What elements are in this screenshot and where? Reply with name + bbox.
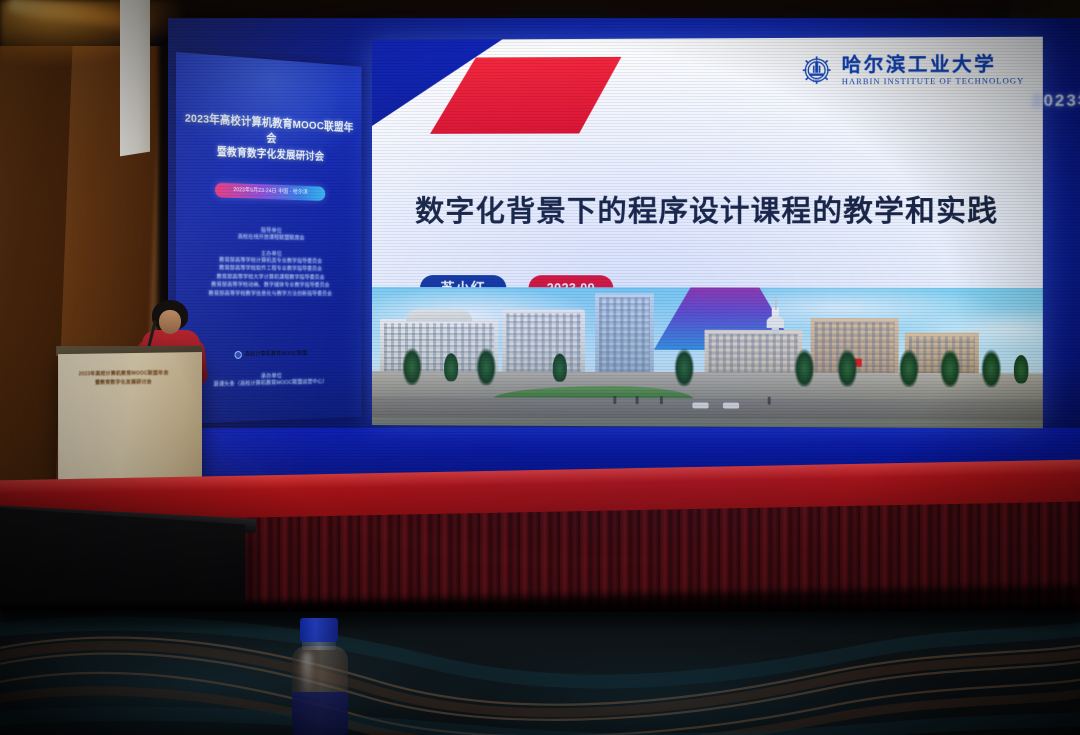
podium-side-panel <box>120 0 150 156</box>
carpet-pattern <box>0 612 1080 735</box>
tree <box>837 346 857 387</box>
pedestrian <box>636 396 639 404</box>
speaker-face <box>159 310 181 334</box>
podium-sign-line2: 暨教育数字化发展研讨会 <box>66 378 183 388</box>
banner-organizer-section: 主办单位 教育部高等学校计算机类专业教学指导委员会 教育部高等学校软件工程专业教… <box>176 248 361 298</box>
clock-tower <box>772 308 779 334</box>
tree <box>1014 355 1028 384</box>
podium-sign: 2023年高校计算机教育MOOC联盟年会 暨教育数字化发展研讨会 <box>66 362 183 397</box>
banner-organizer-line-5: 高校计算机教育MOOC联盟 <box>245 350 307 359</box>
svg-text:HIT: HIT <box>813 78 821 83</box>
slide-red-trapezoid <box>430 57 621 134</box>
tree <box>674 346 694 386</box>
presentation-slide: HIT 哈尔滨工业大学 HARBIN INSTITUTE OF TECHNOLO… <box>372 37 1043 429</box>
led-wall-right-edge-text: 2023年 <box>1032 86 1080 111</box>
tree <box>940 347 961 388</box>
pedestrian <box>613 396 616 404</box>
campus-road <box>372 397 1043 420</box>
windows <box>506 313 581 371</box>
university-name-cn: 哈尔滨工业大学 <box>842 55 1024 76</box>
windows <box>709 334 799 373</box>
car <box>723 403 739 409</box>
carpet-shadow <box>0 604 1080 628</box>
campus-building-4 <box>705 330 803 377</box>
campus-tower-building <box>595 293 654 376</box>
banner-organizer-line-4: 教育部高等学校教学信息化与教学方法创新指导委员会 <box>176 290 361 299</box>
windows <box>599 297 650 372</box>
banner-title: 2023年高校计算机教育MOOC联盟年会 暨教育数字化发展研讨会 <box>182 110 357 166</box>
university-logo: HIT 哈尔滨工业大学 HARBIN INSTITUTE OF TECHNOLO… <box>799 53 1024 88</box>
university-name-block: 哈尔滨工业大学 HARBIN INSTITUTE OF TECHNOLOGY <box>842 55 1024 87</box>
water-bottle <box>282 612 362 735</box>
car <box>692 402 708 408</box>
campus-photo-strip <box>372 287 1043 428</box>
tree <box>553 354 567 382</box>
tree <box>402 345 422 385</box>
tree <box>981 347 1002 388</box>
tree <box>444 353 458 381</box>
campus-building-2 <box>502 309 585 376</box>
university-name-en: HARBIN INSTITUTE OF TECHNOLOGY <box>842 76 1024 87</box>
tree <box>476 345 496 385</box>
slide-title: 数字化背景下的程序设计课程的教学和实践 <box>372 187 1043 230</box>
hit-gear-emblem-icon: HIT <box>799 54 834 89</box>
bottle-label <box>292 692 348 735</box>
pedestrian <box>768 397 771 405</box>
mooc-alliance-icon <box>235 351 242 359</box>
pedestrian <box>660 396 663 404</box>
bottle-cap <box>300 618 338 642</box>
conference-photo-scene: 2023年高校计算机教育MOOC联盟年会 暨教育数字化发展研讨会 2023年5月… <box>0 0 1080 735</box>
tree <box>794 346 814 387</box>
tree <box>899 347 920 388</box>
